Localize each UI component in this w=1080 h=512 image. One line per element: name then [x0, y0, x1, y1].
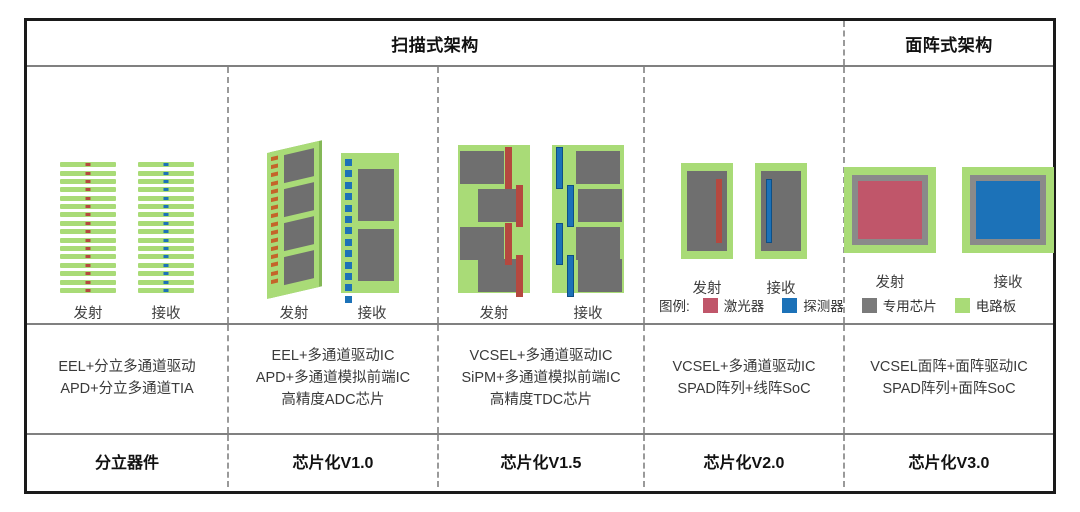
laser-dot [86, 180, 91, 183]
pcb-strip [138, 254, 194, 259]
pcb-strip [60, 212, 116, 217]
pcb-strip [60, 229, 116, 234]
figure-units-chip-v3 [844, 163, 1054, 253]
description-line: VCSEL+多通道驱动IC [461, 346, 620, 368]
detector-dot [164, 222, 169, 225]
stage-cell-discrete: 分立器件 [27, 435, 227, 487]
description-cell-discrete: EEL+分立多通道驱动APD+分立多通道TIA [27, 325, 227, 433]
description-text-discrete: EEL+分立多通道驱动APD+分立多通道TIA [58, 357, 195, 401]
caption-transmit: 发射 [60, 302, 116, 323]
driver-chip [284, 250, 314, 285]
driver-chip [284, 182, 314, 217]
figure-cell-chip-v2: 发射 接收 图例: 激光器 探测器 专用芯片 [643, 67, 843, 323]
laser-dot [86, 272, 91, 275]
detector-dot [164, 247, 169, 250]
description-text-chip-v3: VCSEL面阵+面阵驱动ICSPAD阵列+面阵SoC [870, 357, 1028, 401]
description-line: SPAD阵列+线阵SoC [672, 379, 815, 401]
pcb-strip [138, 196, 194, 201]
pcb-strip [60, 246, 116, 251]
vcsel-linear-board [681, 163, 733, 259]
figure-captions-chip-v1: 发射 接收 [266, 293, 400, 323]
transmit-module-chip-v2 [681, 163, 733, 259]
detector-dot [164, 264, 169, 267]
vcsel-array-frame [852, 175, 928, 245]
stage-label-chip-v3: 芯片化V3.0 [909, 449, 990, 473]
laser-dot [86, 289, 91, 292]
figure-cell-discrete: 发射 接收 [27, 67, 227, 323]
driver-chip-column [284, 148, 314, 285]
transmit-module-chip-v1 [267, 147, 319, 293]
pcb-strip [60, 187, 116, 192]
figure-units-chip-v1 [267, 67, 399, 293]
caption-receive: 接收 [344, 302, 400, 323]
frontend-chip [576, 227, 620, 260]
laser-dot [86, 163, 91, 166]
vcsel-array [858, 181, 922, 239]
description-line: SiPM+多通道模拟前端IC [461, 368, 620, 390]
laser-strip-stack [60, 162, 116, 293]
figure-captions-discrete: 发射 接收 [60, 293, 194, 323]
description-cell-chip-v2: VCSEL+多通道驱动ICSPAD阵列+线阵SoC [643, 325, 843, 433]
driver-chip [460, 227, 504, 260]
spad-linear-board [755, 163, 807, 259]
pcb-strip [60, 179, 116, 184]
detector-board-flat [341, 153, 399, 293]
laser-dot [86, 239, 91, 242]
vcsel-area-board [844, 167, 936, 253]
pcb-strip [60, 221, 116, 226]
pcb-strip [138, 238, 194, 243]
detector-bar [556, 147, 563, 189]
pcb-strip [138, 263, 194, 268]
pcb-strip [60, 238, 116, 243]
detector-dot [164, 197, 169, 200]
caption-receive: 接收 [138, 302, 194, 323]
stage-cell-chip-v1: 芯片化V1.0 [227, 435, 437, 487]
description-line: VCSEL面阵+面阵驱动IC [870, 357, 1028, 379]
legend-item-laser: 激光器 [703, 295, 765, 315]
pcb-strip [60, 263, 116, 268]
table-header-row: 扫描式架构 面阵式架构 [27, 21, 1053, 67]
pcb-strip [60, 280, 116, 285]
pcb-strip [60, 204, 116, 209]
detector-dot [164, 205, 169, 208]
laser-dot [86, 197, 91, 200]
sipm-pcb [552, 145, 624, 293]
description-line: VCSEL+多通道驱动IC [672, 357, 815, 379]
description-line: SPAD阵列+面阵SoC [870, 379, 1028, 401]
caption-transmit: 发射 [844, 271, 936, 292]
laser-dot [86, 247, 91, 250]
pcb-strip [138, 271, 194, 276]
detector-dot [164, 255, 169, 258]
pcb-strip [60, 271, 116, 276]
figure-units-discrete [60, 67, 194, 293]
stage-label-discrete: 分立器件 [95, 449, 159, 473]
architecture-comparison-table: 扫描式架构 面阵式架构 发射 接收 [24, 18, 1056, 494]
legend-item-detector: 探测器 [782, 295, 844, 315]
pcb-strip [60, 254, 116, 259]
detector-dot [164, 230, 169, 233]
figure-cell-chip-v1: 发射 接收 [227, 67, 437, 323]
laser-dot [86, 205, 91, 208]
detector-dot [164, 180, 169, 183]
stage-label-chip-v15: 芯片化V1.5 [501, 449, 582, 473]
frontend-chip [576, 151, 620, 184]
detector-bar [567, 255, 574, 297]
legend-title: 图例: [659, 295, 690, 315]
vcsel-pcb [458, 145, 530, 293]
laser-dot [86, 230, 91, 233]
pcb-strip [138, 179, 194, 184]
detector-dot [164, 272, 169, 275]
detector-bar [567, 185, 574, 227]
legend-label-laser: 激光器 [724, 295, 765, 315]
table-stage-row: 分立器件 芯片化V1.0 芯片化V1.5 芯片化V2.0 芯片化V3.0 [27, 435, 1053, 487]
pcb-strip [60, 288, 116, 293]
laser-dot [86, 213, 91, 216]
pcb-strip [138, 246, 194, 251]
adc-chip [358, 229, 394, 281]
pcb-strip [138, 221, 194, 226]
caption-receive: 接收 [552, 302, 624, 323]
pcb-strip [60, 196, 116, 201]
spad-array [976, 181, 1040, 239]
pcb-strip [138, 162, 194, 167]
laser-dot [86, 188, 91, 191]
description-cell-chip-v1: EEL+多通道驱动ICAPD+多通道模拟前端IC高精度ADC芯片 [227, 325, 437, 433]
figure-units-chip-v15 [458, 67, 624, 293]
stage-label-chip-v1: 芯片化V1.0 [293, 449, 374, 473]
caption-receive: 接收 [962, 271, 1054, 292]
driver-chip [284, 148, 314, 183]
receive-module-discrete [138, 162, 194, 293]
frontend-chip [578, 189, 622, 222]
figure-captions-chip-v3: 发射 接收 [844, 262, 1054, 292]
spad-array-frame [970, 175, 1046, 245]
figure-captions-chip-v15: 发射 接收 [458, 293, 624, 323]
stage-cell-chip-v15: 芯片化V1.5 [437, 435, 643, 487]
detector-line [766, 179, 772, 243]
figure-cell-chip-v15: 发射 接收 [437, 67, 643, 323]
detector-dot [164, 172, 169, 175]
stage-label-chip-v2: 芯片化V2.0 [704, 449, 785, 473]
laser-emitter-dots [271, 155, 278, 283]
driver-chip [460, 151, 504, 184]
description-line: APD+分立多通道TIA [58, 379, 195, 401]
pcb-strip [60, 162, 116, 167]
description-line: EEL+多通道驱动IC [256, 346, 410, 368]
pcb-strip [138, 229, 194, 234]
laser-dot [86, 281, 91, 284]
figure-cell-chip-v3: 发射 接收 [843, 67, 1053, 323]
detector-dot [164, 188, 169, 191]
laser-dot [86, 222, 91, 225]
receive-module-chip-v2 [755, 163, 807, 259]
laser-bar [516, 185, 523, 227]
description-line: 高精度TDC芯片 [461, 390, 620, 412]
laser-bar [505, 147, 512, 189]
detector-dot [164, 281, 169, 284]
description-line: 高精度ADC芯片 [256, 390, 410, 412]
receive-module-chip-v3 [962, 167, 1054, 253]
table-figures-row: 发射 接收 [27, 67, 1053, 325]
laser-board-3d [267, 141, 319, 299]
laser-bar [505, 223, 512, 265]
laser-dot [86, 264, 91, 267]
description-cell-chip-v3: VCSEL面阵+面阵驱动ICSPAD阵列+面阵SoC [843, 325, 1053, 433]
description-line: APD+多通道模拟前端IC [256, 368, 410, 390]
pcb-strip [138, 187, 194, 192]
pcb-strip [138, 204, 194, 209]
pcb-strip [138, 212, 194, 217]
pcb-strip [138, 171, 194, 176]
laser-line [716, 179, 722, 243]
stage-cell-chip-v3: 芯片化V3.0 [843, 435, 1053, 487]
figure-captions-chip-v2: 发射 接收 [681, 268, 807, 298]
description-line: EEL+分立多通道驱动 [58, 357, 195, 379]
header-scanning-architecture: 扫描式架构 [27, 21, 843, 65]
laser-bar [516, 255, 523, 297]
description-text-chip-v2: VCSEL+多通道驱动ICSPAD阵列+线阵SoC [672, 357, 815, 401]
driver-chip [687, 171, 727, 251]
spad-area-board [962, 167, 1054, 253]
receive-module-chip-v15 [552, 145, 624, 293]
caption-transmit: 发射 [266, 302, 322, 323]
legend-label-detector: 探测器 [803, 295, 844, 315]
stage-cell-chip-v2: 芯片化V2.0 [643, 435, 843, 487]
figure-units-chip-v2 [681, 159, 807, 259]
driver-chip [284, 216, 314, 251]
laser-swatch-icon [703, 298, 718, 313]
receive-module-chip-v1 [341, 153, 399, 293]
pcb-strip [138, 288, 194, 293]
header-scanning-label: 扫描式架构 [391, 31, 479, 56]
header-area-array-label: 面阵式架构 [905, 31, 993, 56]
frontend-chip [578, 259, 622, 292]
detector-bar [556, 223, 563, 265]
transmit-module-chip-v15 [458, 145, 530, 293]
detector-swatch-icon [782, 298, 797, 313]
transmit-module-chip-v3 [844, 167, 936, 253]
pcb-strip [60, 171, 116, 176]
caption-transmit: 发射 [458, 302, 530, 323]
detector-dots [345, 159, 352, 303]
laser-dot [86, 255, 91, 258]
description-cell-chip-v15: VCSEL+多通道驱动ICSiPM+多通道模拟前端IC高精度TDC芯片 [437, 325, 643, 433]
detector-dot [164, 163, 169, 166]
detector-dot [164, 239, 169, 242]
table-description-row: EEL+分立多通道驱动APD+分立多通道TIA EEL+多通道驱动ICAPD+多… [27, 325, 1053, 435]
description-text-chip-v1: EEL+多通道驱动ICAPD+多通道模拟前端IC高精度ADC芯片 [256, 346, 410, 411]
laser-dot [86, 172, 91, 175]
pcb-strip [138, 280, 194, 285]
detector-dot [164, 213, 169, 216]
linear-soc-chip [761, 171, 801, 251]
description-text-chip-v15: VCSEL+多通道驱动ICSiPM+多通道模拟前端IC高精度TDC芯片 [461, 346, 620, 411]
detector-dot [164, 289, 169, 292]
transmit-module-discrete [60, 162, 116, 293]
detector-strip-stack [138, 162, 194, 293]
analog-frontend-chip [358, 169, 394, 221]
header-area-array-architecture: 面阵式架构 [843, 21, 1053, 65]
